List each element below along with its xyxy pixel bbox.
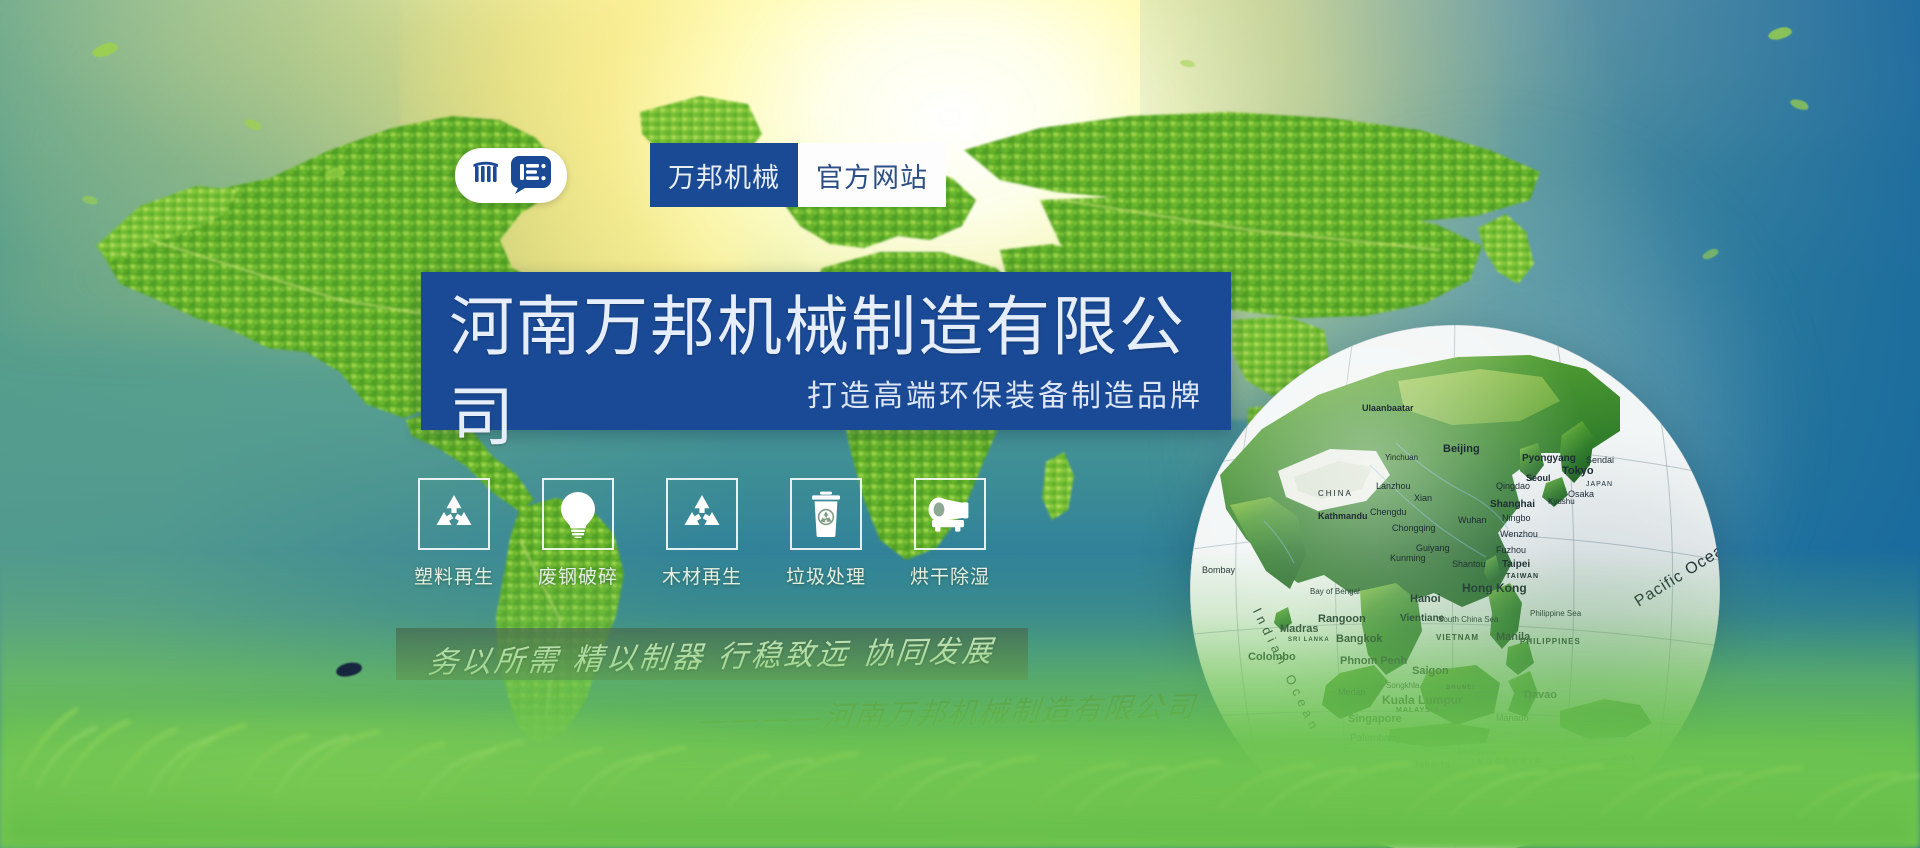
- page-title: 河南万邦机械制造有限公司: [449, 282, 1231, 462]
- header-tabs: 万邦机械 官方网站: [650, 143, 946, 207]
- tab-official-site[interactable]: 官方网站: [798, 143, 946, 207]
- hero-banner: Ulaanbaatar Beijing Yinchuan Lanzhou Xia…: [0, 0, 1920, 848]
- site-header: 万邦机械 官方网站: [455, 143, 946, 207]
- trash-bin-recycle-icon: [809, 491, 843, 537]
- tab-label: 官方网站: [816, 156, 928, 195]
- company-title-card: 河南万邦机械制造有限公司 打造高端环保装备制造品牌: [421, 272, 1231, 430]
- feature-icon-box: [542, 478, 614, 550]
- tab-label: 万邦机械: [668, 156, 780, 195]
- logo-b-bubble-icon: [511, 156, 551, 194]
- grass-soft-blur: [0, 698, 1920, 848]
- recycle-icon: [431, 491, 477, 537]
- tab-wanbang-machinery[interactable]: 万邦机械: [650, 143, 798, 207]
- feature-icon-box: [790, 478, 862, 550]
- logo-w-icon: [472, 158, 506, 192]
- page-tagline: 打造高端环保装备制造品牌: [807, 376, 1203, 418]
- feature-icon-box: [666, 478, 738, 550]
- feature-icon-box: [914, 478, 986, 550]
- lightbulb-icon: [557, 490, 599, 538]
- wanbang-logo[interactable]: [455, 148, 567, 203]
- dryer-blower-icon: [925, 495, 975, 533]
- feature-icon-box: [418, 478, 490, 550]
- recycle-icon: [679, 491, 725, 537]
